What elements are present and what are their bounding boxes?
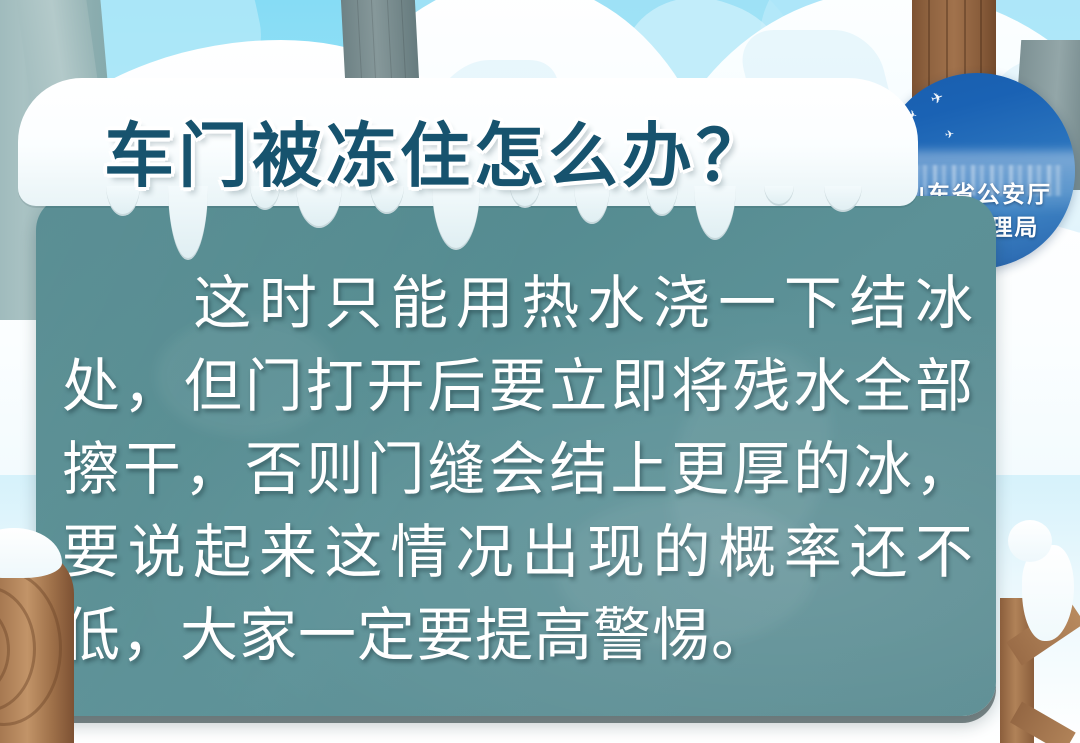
branch-snow-cap <box>1008 520 1052 562</box>
poster-canvas: ✈ ✈ ✈ ✈ 山东省公安厅 交通管理局 车门被冻住怎么办？ 这时只能用热水浇一… <box>0 0 1080 743</box>
bird-icon: ✈ <box>944 128 955 140</box>
bird-icon: ✈ <box>929 89 946 107</box>
body-paragraph: 这时只能用热水浇一下结冰处，但门打开后要立即将残水全部擦干，否则门缝会结上更厚的… <box>62 262 974 677</box>
icicle <box>824 186 862 212</box>
page-title: 车门被冻住怎么办？ <box>104 100 770 201</box>
body-copy: 这时只能用热水浇一下结冰处，但门打开后要立即将残水全部擦干，否则门缝会结上更厚的… <box>62 262 974 677</box>
